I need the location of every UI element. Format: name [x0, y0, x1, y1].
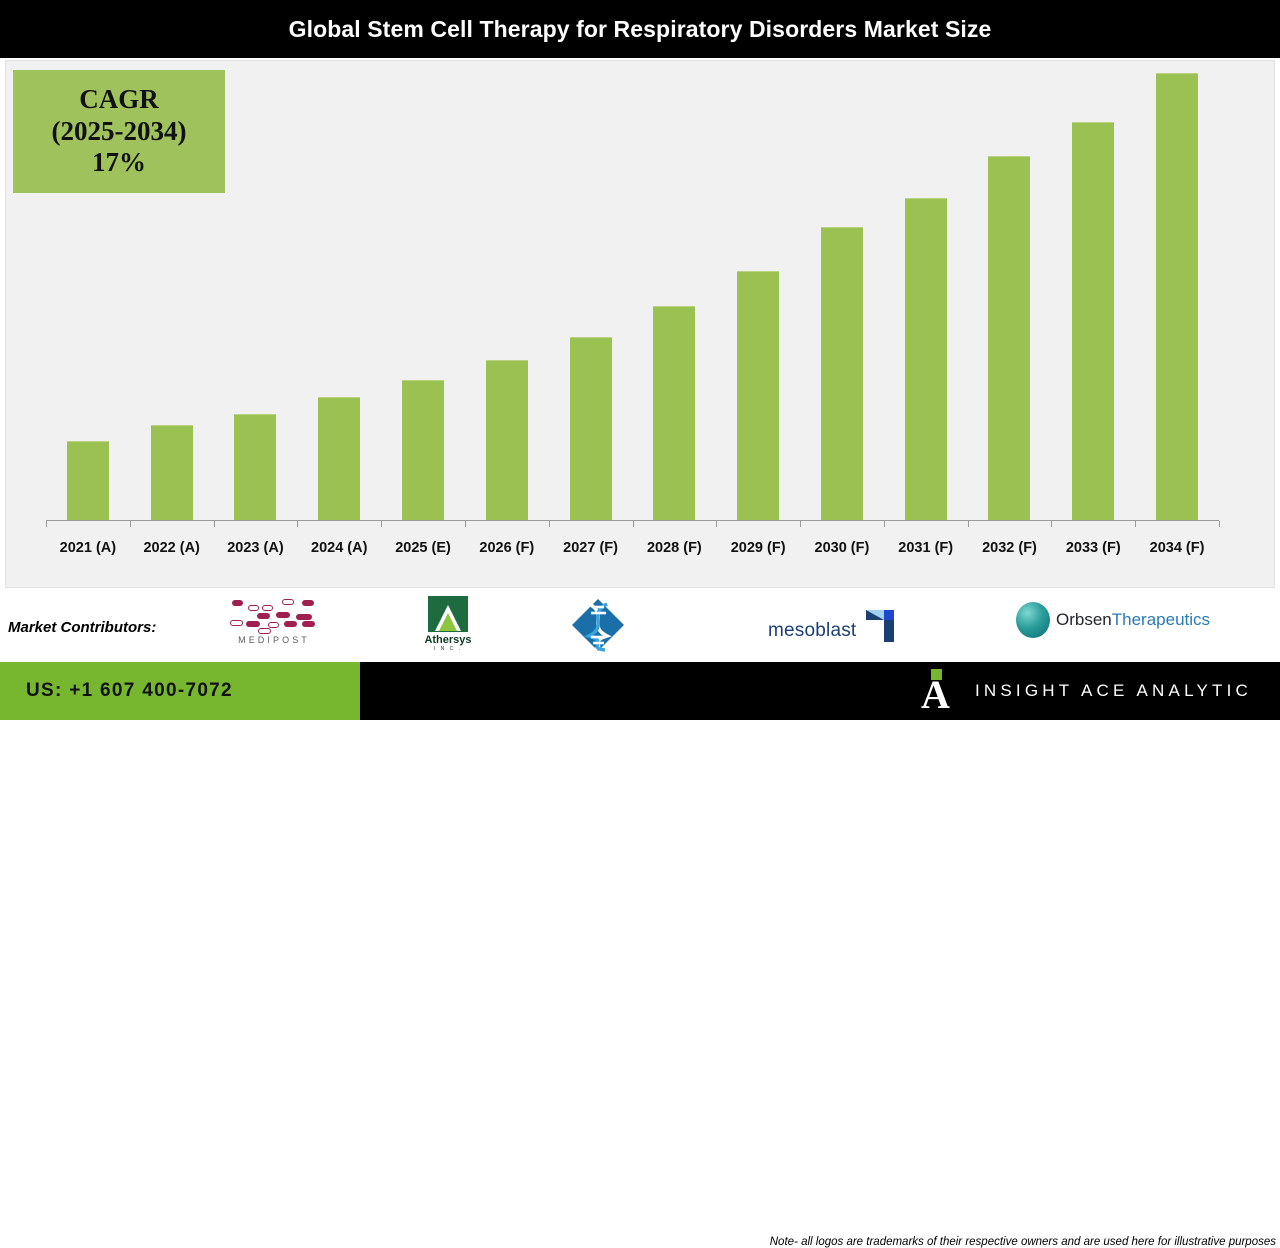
bar-cell — [800, 61, 884, 521]
x-axis-label: 2022 (A) — [130, 535, 214, 561]
brand-lockup: A INSIGHT ACE ANALYTIC — [921, 662, 1252, 720]
x-axis-ticks — [46, 521, 1219, 527]
phone-band[interactable]: US: +1 607 400-7072 — [0, 662, 360, 720]
orbsen-word-b: Therapeutics — [1112, 610, 1210, 629]
contributors-label: Market Contributors: — [8, 619, 156, 636]
medipost-logo: MEDIPOST — [224, 592, 324, 656]
x-axis-tick — [1051, 521, 1052, 527]
x-axis-tick — [633, 521, 634, 527]
x-axis-label: 2024 (A) — [297, 535, 381, 561]
market-size-infographic: Global Stem Cell Therapy for Respiratory… — [0, 0, 1280, 720]
bar — [1072, 122, 1114, 521]
mesoblast-wordmark: mesoblast — [768, 620, 856, 642]
bar-cell — [884, 61, 968, 521]
x-axis-tick — [800, 521, 801, 527]
athersys-wordmark: Athersys — [420, 634, 476, 646]
bar — [988, 156, 1030, 521]
bar-cell — [465, 61, 549, 521]
x-axis-label: 2025 (E) — [381, 535, 465, 561]
bar-cell — [46, 61, 130, 521]
dna-helix-logo — [568, 592, 628, 656]
x-axis-label: 2030 (F) — [800, 535, 884, 561]
x-axis-tick — [549, 521, 550, 527]
x-axis-tick — [381, 521, 382, 527]
bar-series — [46, 61, 1219, 521]
x-axis-label: 2033 (F) — [1051, 535, 1135, 561]
bar-cell — [297, 61, 381, 521]
bar-cell — [968, 61, 1052, 521]
page-title: Global Stem Cell Therapy for Respiratory… — [289, 16, 992, 43]
x-axis-tick — [1219, 521, 1220, 527]
x-axis-label: 2027 (F) — [549, 535, 633, 561]
title-bar: Global Stem Cell Therapy for Respiratory… — [0, 0, 1280, 58]
bar-cell — [130, 61, 214, 521]
x-axis-tick — [214, 521, 215, 527]
orbsen-wordmark: OrbsenTherapeutics — [1056, 610, 1210, 630]
bar — [821, 227, 863, 521]
x-axis-label: 2034 (F) — [1135, 535, 1219, 561]
x-axis-tick — [297, 521, 298, 527]
x-axis-tick — [716, 521, 717, 527]
x-axis-label: 2031 (F) — [884, 535, 968, 561]
x-axis-tick — [46, 521, 47, 527]
bar — [318, 397, 360, 521]
x-axis-tick — [968, 521, 969, 527]
bar — [151, 425, 193, 521]
bar-cell — [1135, 61, 1219, 521]
athersys-mountain-icon — [428, 596, 468, 632]
footer-bar: US: +1 607 400-7072 A INSIGHT ACE ANALYT… — [0, 662, 1280, 720]
dna-helix-icon — [569, 596, 627, 654]
phone-number[interactable]: US: +1 607 400-7072 — [26, 680, 233, 702]
trademark-note: Note- all logos are trademarks of their … — [641, 1236, 1276, 1248]
x-axis-tick — [1135, 521, 1136, 527]
bar-cell — [1051, 61, 1135, 521]
x-axis-label: 2026 (F) — [465, 535, 549, 561]
bar-cell — [549, 61, 633, 521]
mesoblast-mark-icon — [864, 608, 894, 642]
bar-cell — [632, 61, 716, 521]
x-axis-tick — [884, 521, 885, 527]
bar-chart-plot: 2021 (A)2022 (A)2023 (A)2024 (A)2025 (E)… — [46, 61, 1219, 581]
orbsen-therapeutics-logo: OrbsenTherapeutics — [1016, 592, 1226, 656]
mesoblast-logo: mesoblast — [768, 592, 898, 656]
medipost-wordmark: MEDIPOST — [224, 635, 324, 645]
bar — [1156, 73, 1198, 522]
bar — [486, 360, 528, 521]
bar-cell — [214, 61, 298, 521]
insightace-logo-icon: A — [921, 669, 957, 713]
x-axis-tick — [130, 521, 131, 527]
x-axis-tick — [465, 521, 466, 527]
brand-name: INSIGHT ACE ANALYTIC — [975, 681, 1252, 701]
x-axis-label: 2023 (A) — [214, 535, 298, 561]
x-axis-labels: 2021 (A)2022 (A)2023 (A)2024 (A)2025 (E)… — [46, 535, 1219, 561]
x-axis-label: 2028 (F) — [632, 535, 716, 561]
brand-letter-a: A — [921, 679, 957, 713]
x-axis-label: 2032 (F) — [968, 535, 1052, 561]
bar-cell — [716, 61, 800, 521]
chart-panel: CAGR (2025-2034) 17% 2021 (A)2022 (A)202… — [5, 60, 1275, 588]
orbsen-sphere-icon — [1016, 602, 1050, 638]
orbsen-word-a: Orbsen — [1056, 610, 1112, 629]
bar — [67, 441, 109, 522]
x-axis-label: 2029 (F) — [716, 535, 800, 561]
bar — [905, 198, 947, 521]
athersys-subtext: I N C . — [420, 646, 476, 652]
bar — [234, 414, 276, 521]
athersys-logo: Athersys I N C . — [420, 592, 476, 656]
bar — [737, 271, 779, 521]
medipost-mark-icon — [224, 598, 324, 632]
bar-cell — [381, 61, 465, 521]
bar — [402, 380, 444, 521]
market-contributors-strip: Market Contributors: MEDIPOST — [0, 592, 1280, 662]
x-axis-label: 2021 (A) — [46, 535, 130, 561]
bar — [570, 337, 612, 521]
bar — [653, 306, 695, 521]
